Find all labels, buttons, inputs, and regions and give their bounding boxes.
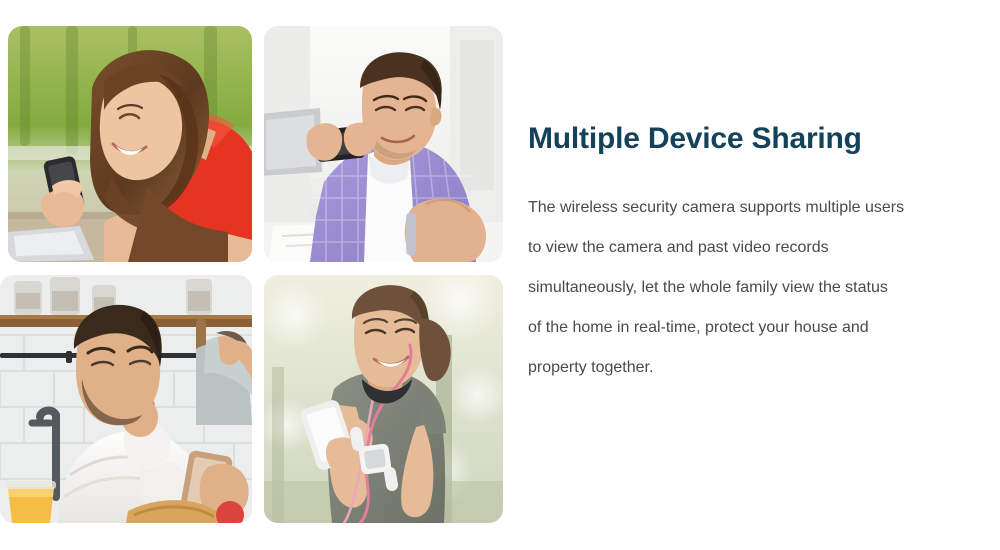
feature-text-block: Multiple Device Sharing The wireless sec…	[528, 118, 980, 388]
photo-bottom-right	[264, 275, 503, 523]
photo-top-left	[8, 26, 252, 262]
photo-bottom-left	[0, 275, 252, 523]
product-feature-banner: Multiple Device Sharing The wireless sec…	[0, 0, 1000, 550]
photo-top-left-scene	[8, 26, 252, 262]
photo-top-right-scene	[264, 26, 503, 262]
page-title: Multiple Device Sharing	[528, 118, 980, 160]
photo-collage	[0, 26, 504, 523]
woman-sportswear-smartphone-illustration	[264, 275, 503, 523]
man-kitchen-smartphone-illustration	[0, 275, 252, 523]
feature-description: The wireless security camera supports mu…	[528, 160, 980, 388]
photo-bottom-right-scene	[264, 275, 503, 523]
man-purple-shirt-smartphone-illustration	[264, 26, 503, 262]
photo-bottom-left-scene	[0, 275, 252, 523]
photo-top-right	[264, 26, 503, 262]
woman-red-top-smartphone-illustration	[8, 26, 252, 262]
